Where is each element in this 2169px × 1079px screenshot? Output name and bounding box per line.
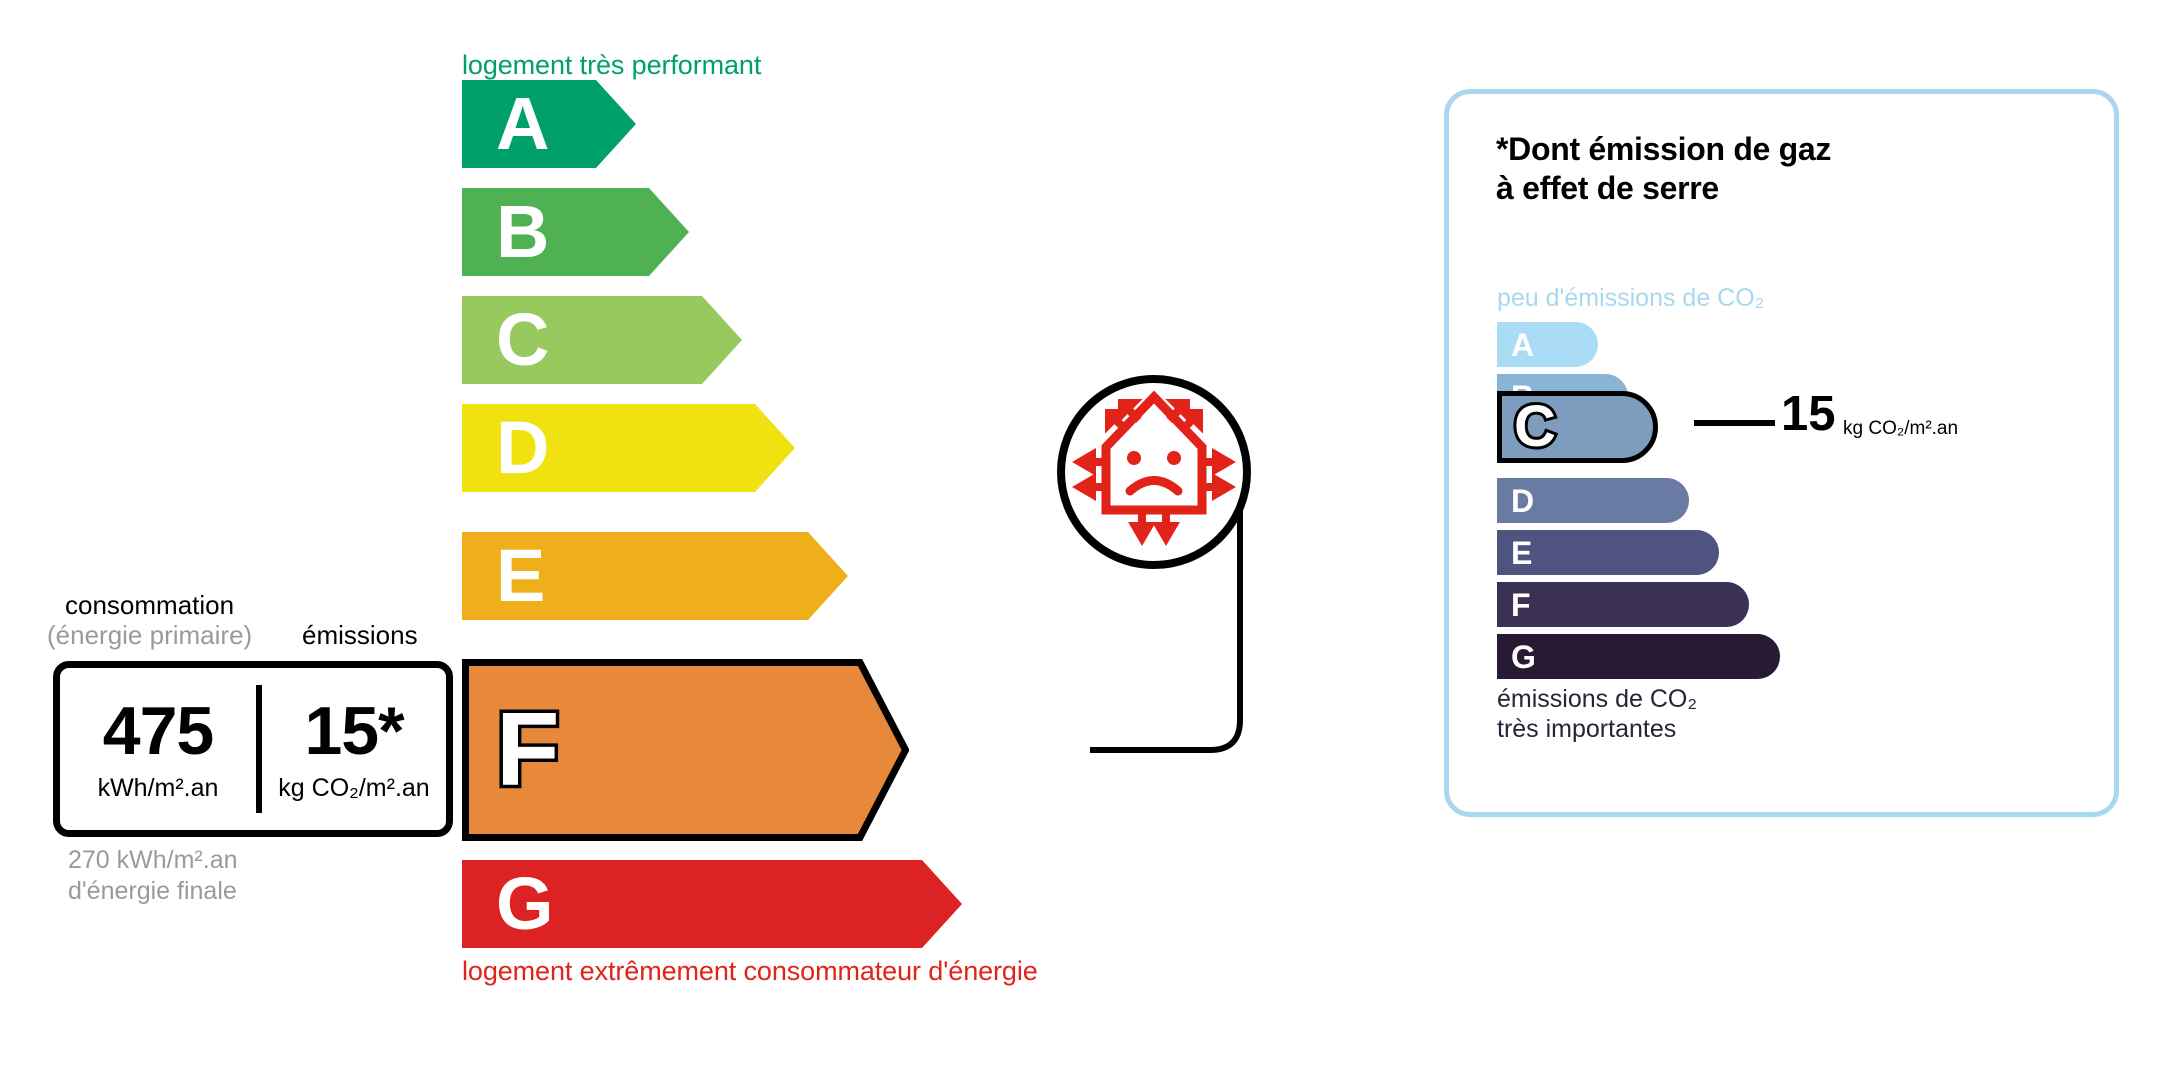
co2-letter-A: A: [1511, 329, 1534, 361]
emissions-label: émissions: [302, 620, 418, 651]
energy-letter-A: A: [496, 87, 549, 161]
energy-arrow-C: C: [462, 296, 742, 384]
co2-row-D: D: [1497, 478, 1689, 523]
co2-row-E: E: [1497, 530, 1719, 575]
energy-performance-panel: logement très performant A B C: [0, 0, 1400, 1079]
energy-row-E: E: [462, 532, 848, 620]
energy-letter-B: B: [496, 195, 549, 269]
energy-row-F-selected: F: [462, 659, 909, 841]
energy-bottom-caption: logement extrêmement consommateur d'éner…: [462, 956, 1038, 987]
energy-row-G: G: [462, 860, 962, 948]
co2-letter-E: E: [1511, 537, 1532, 569]
co2-bar-C: C: [1497, 391, 1658, 463]
co2-row-A: A: [1497, 322, 1598, 367]
energy-arrow-B: B: [462, 188, 689, 276]
energy-row-A: A: [462, 80, 636, 168]
co2-callout-value: 15: [1781, 390, 1836, 439]
co2-bar-A: A: [1497, 322, 1598, 367]
consumption-value-cell: 475 kWh/m².an: [60, 668, 256, 830]
energy-arrow-A: A: [462, 80, 636, 168]
energy-letter-C: C: [496, 303, 549, 377]
emissions-unit: kg CO₂/m².an: [278, 776, 429, 801]
energy-letter-G: G: [496, 867, 554, 941]
energy-top-caption: logement très performant: [462, 50, 761, 81]
energy-row-D: D: [462, 404, 795, 492]
sad-house-heat-loss-icon: [1054, 372, 1254, 572]
emissions-value: 15*: [304, 697, 403, 765]
value-box: 475 kWh/m².an 15* kg CO₂/m².an: [53, 661, 453, 837]
co2-panel-title: *Dont émission de gaz à effet de serre: [1496, 130, 1831, 208]
emissions-value-cell: 15* kg CO₂/m².an: [262, 668, 446, 830]
consumption-label: consommation: [65, 590, 234, 621]
co2-callout-line: [1694, 420, 1775, 426]
co2-bar-D: D: [1497, 478, 1689, 523]
co2-bar-F: F: [1497, 582, 1749, 627]
co2-row-G: G: [1497, 634, 1780, 679]
co2-row-F: F: [1497, 582, 1749, 627]
co2-top-caption: peu d'émissions de CO₂: [1497, 284, 1764, 313]
energy-row-C: C: [462, 296, 742, 384]
co2-letter-F: F: [1511, 589, 1531, 621]
co2-bar-E: E: [1497, 530, 1719, 575]
co2-letter-D: D: [1511, 485, 1534, 517]
co2-emissions-panel: *Dont émission de gaz à effet de serre p…: [1444, 89, 2119, 817]
energy-arrow-F: F: [462, 659, 909, 841]
consumption-sublabel: (énergie primaire): [47, 620, 252, 651]
co2-bar-G: G: [1497, 634, 1780, 679]
final-energy-label: 270 kWh/m².an d'énergie finale: [68, 845, 238, 906]
energy-arrow-G: G: [462, 860, 962, 948]
energy-row-B: B: [462, 188, 689, 276]
co2-letter-G: G: [1511, 641, 1536, 673]
consumption-unit: kWh/m².an: [98, 776, 219, 801]
energy-arrow-D: D: [462, 404, 795, 492]
co2-letter-C: C: [1514, 398, 1556, 456]
co2-row-C-selected: C: [1497, 391, 1658, 463]
co2-callout-unit: kg CO₂/m².an: [1843, 419, 1958, 438]
co2-bottom-caption: émissions de CO₂ très importantes: [1497, 684, 1697, 744]
energy-letter-F: F: [496, 698, 560, 802]
energy-letter-D: D: [496, 411, 549, 485]
energy-arrow-E: E: [462, 532, 848, 620]
consumption-value: 475: [103, 697, 213, 765]
energy-letter-E: E: [496, 539, 545, 613]
